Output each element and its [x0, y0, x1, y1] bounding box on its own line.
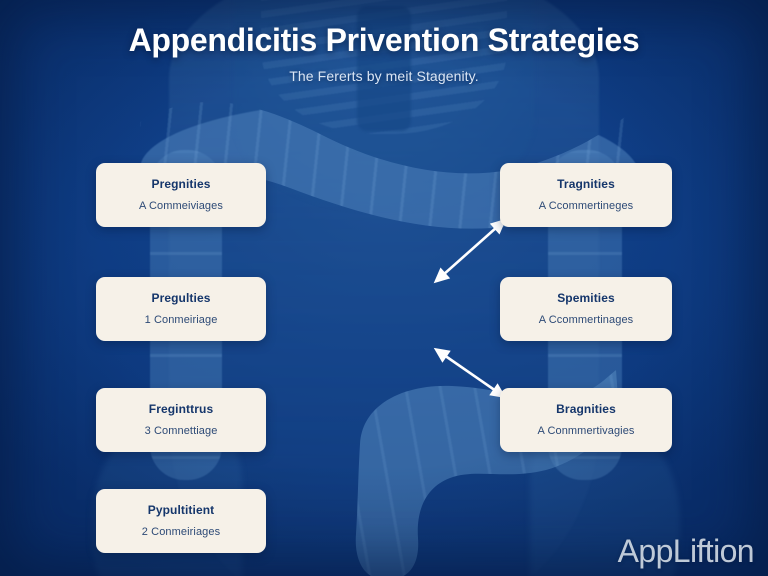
card-left-3[interactable]: Freginttrus 3 Comnettiage: [96, 388, 266, 452]
card-right-3[interactable]: Bragnities A Conmmertivagies: [500, 388, 672, 452]
card-left-3-subtitle: 3 Comnettiage: [106, 425, 256, 437]
slide-canvas: Appendicitis Privention Strategies The F…: [0, 0, 768, 576]
card-right-2-title: Spemities: [510, 291, 662, 305]
card-right-2-subtitle: A Ccommertinages: [510, 314, 662, 326]
card-right-1-subtitle: A Ccommertineges: [510, 200, 662, 212]
card-left-1-subtitle: A Commeiviages: [106, 200, 256, 212]
card-right-1[interactable]: Tragnities A Ccommertineges: [500, 163, 672, 227]
brand-logo: AppLiftion: [618, 533, 754, 570]
card-right-3-title: Bragnities: [510, 402, 662, 416]
card-left-2-subtitle: 1 Conmeiriage: [106, 314, 256, 326]
card-left-3-title: Freginttrus: [106, 402, 256, 416]
header: Appendicitis Privention Strategies The F…: [0, 22, 768, 84]
card-left-1-title: Pregnities: [106, 177, 256, 191]
card-left-1[interactable]: Pregnities A Commeiviages: [96, 163, 266, 227]
card-right-1-title: Tragnities: [510, 177, 662, 191]
card-left-4[interactable]: Pypultitient 2 Conmeiriages: [96, 489, 266, 553]
card-left-4-title: Pypultitient: [106, 503, 256, 517]
card-left-2-title: Pregulties: [106, 291, 256, 305]
page-title: Appendicitis Privention Strategies: [0, 22, 768, 59]
card-left-4-subtitle: 2 Conmeiriages: [106, 526, 256, 538]
page-subtitle: The Fererts by meit Stagenity.: [0, 68, 768, 84]
card-right-3-subtitle: A Conmmertivagies: [510, 425, 662, 437]
card-left-2[interactable]: Pregulties 1 Conmeiriage: [96, 277, 266, 341]
card-right-2[interactable]: Spemities A Ccommertinages: [500, 277, 672, 341]
